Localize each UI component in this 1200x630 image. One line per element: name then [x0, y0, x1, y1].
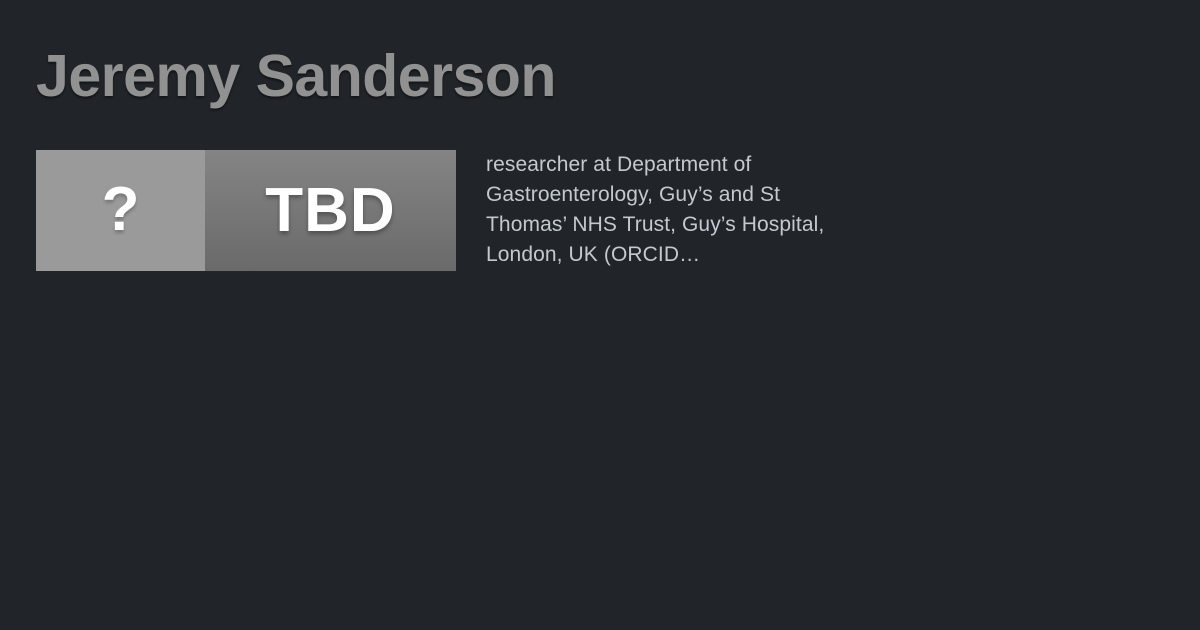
description-text: researcher at Department of Gastroentero… [486, 150, 846, 270]
description-line: researcher at Department of [486, 150, 846, 180]
content-row: ? TBD researcher at Department of Gastro… [36, 150, 1164, 271]
preview-card: Jeremy Sanderson ? TBD researcher at Dep… [0, 0, 1200, 630]
description-line: London, UK (ORCID… [486, 240, 846, 270]
thumbnail-right-panel: TBD [205, 150, 456, 271]
page-title: Jeremy Sanderson [36, 46, 556, 108]
thumbnail-tbd-label: TBD [265, 180, 395, 242]
question-mark-icon: ? [102, 179, 140, 241]
placeholder-thumbnail: ? TBD [36, 150, 456, 271]
thumbnail-left-panel: ? [36, 150, 205, 271]
description-line: Thomas’ NHS Trust, Guy’s Hospital, [486, 210, 846, 240]
description-line: Gastroenterology, Guy’s and St [486, 180, 846, 210]
